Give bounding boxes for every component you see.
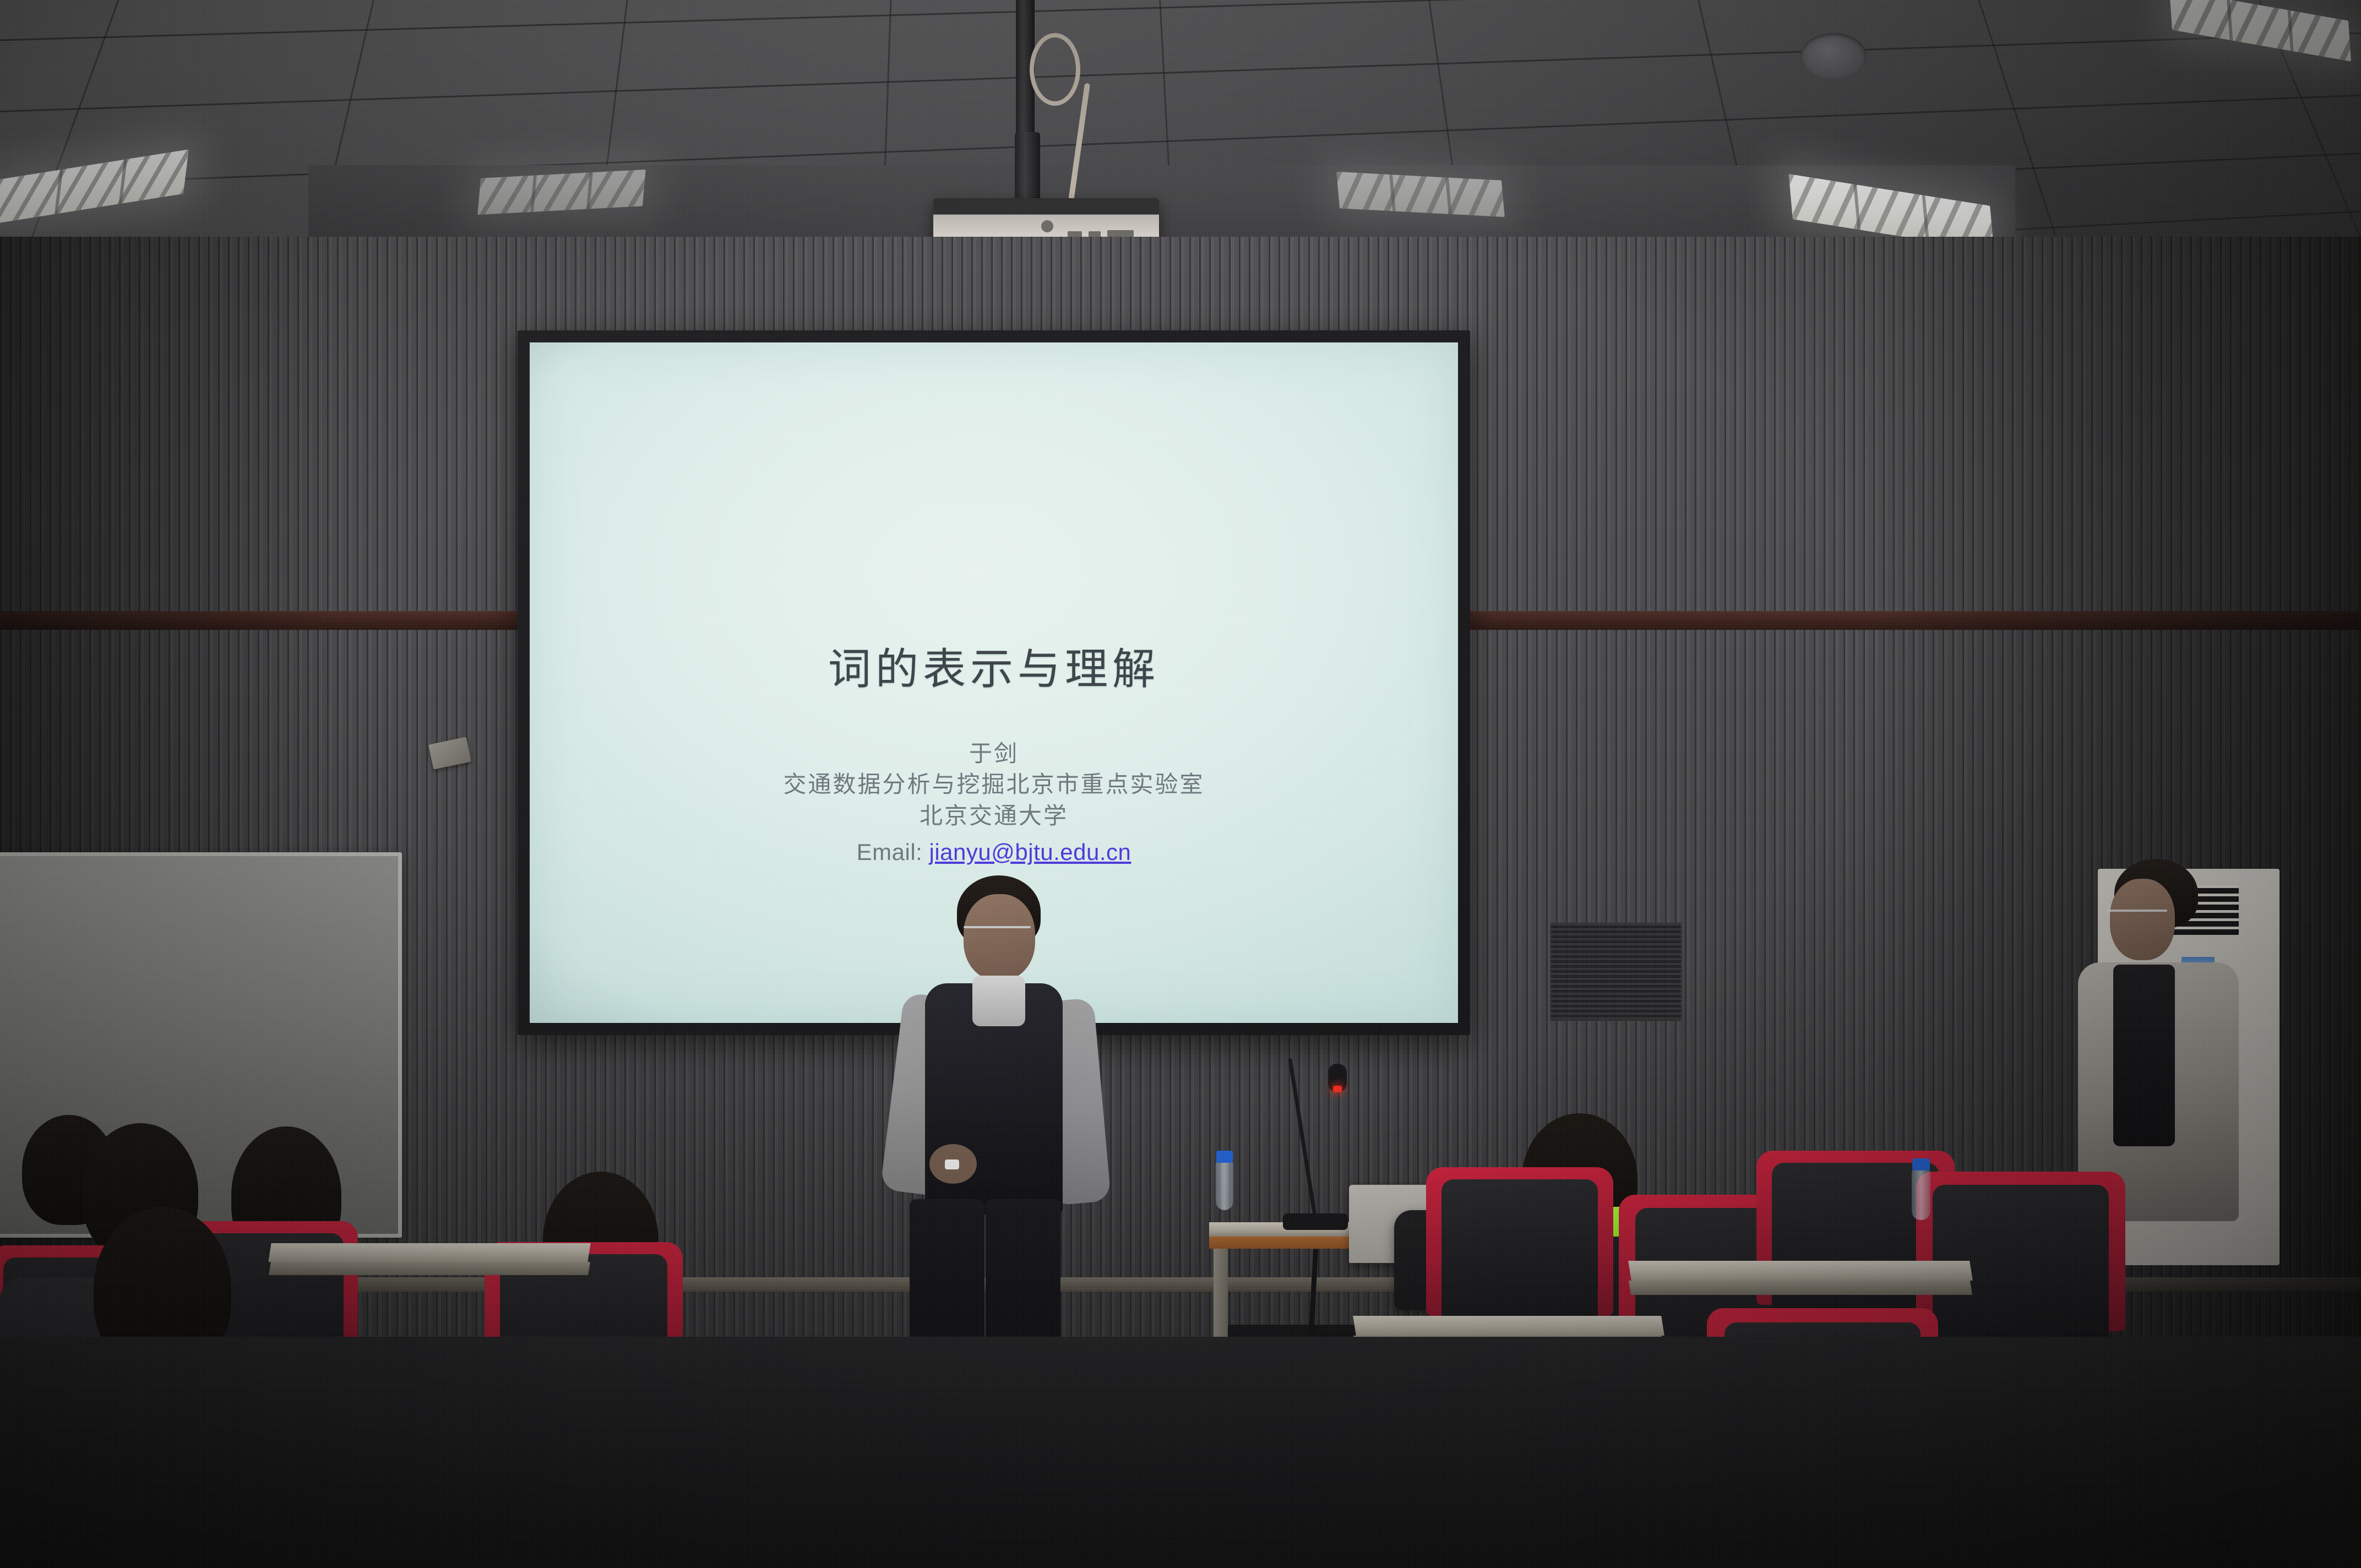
microphone-base [1283,1213,1348,1230]
presentation-clicker[interactable] [945,1159,959,1169]
floor [0,1337,2361,1568]
slide-email-address[interactable]: jianyu@bjtu.edu.cn [929,839,1131,865]
slide-lab-name: 交通数据分析与挖掘北京市重点实验室 [783,769,1204,800]
attendee-glasses [2107,910,2167,912]
slide-email-label: Email: [857,839,923,865]
slide-title: 词的表示与理解 [828,635,1160,696]
attendee-inner-shirt [2113,965,2175,1146]
water-bottle-back[interactable] [1912,1167,1930,1220]
presenter-head [964,894,1035,980]
slide-email-line: Email: jianyu@bjtu.edu.cn [857,839,1131,865]
projector-mount-arm [1015,132,1040,204]
ceiling-light-far-right [2169,0,2351,62]
slide-presenter-name: 于剑 [783,738,1204,769]
projector-cable-loop [1030,33,1080,106]
presenter-glasses [964,926,1031,928]
chair-row2-a[interactable] [1426,1167,1613,1316]
round-ceiling-speaker [1800,33,1867,79]
water-bottle-mid-cap [1216,1151,1233,1163]
lecture-hall-photo: 词的表示与理解 于剑 交通数据分析与挖掘北京市重点实验室 北京交通大学 Emai… [0,0,2361,1568]
microphone-led [1333,1086,1342,1092]
slide-subtitle-block: 于剑 交通数据分析与挖掘北京市重点实验室 北京交通大学 [783,738,1204,831]
presenter-shirt-collar [972,976,1025,1026]
water-bottle-back-cap [1912,1158,1930,1170]
water-bottle-mid[interactable] [1216,1159,1233,1210]
attendee-head [2110,879,2175,960]
ceiling-light-left [0,149,189,224]
slide-university-name: 北京交通大学 [783,801,1204,831]
wall-vent-panel [1550,922,1682,1021]
